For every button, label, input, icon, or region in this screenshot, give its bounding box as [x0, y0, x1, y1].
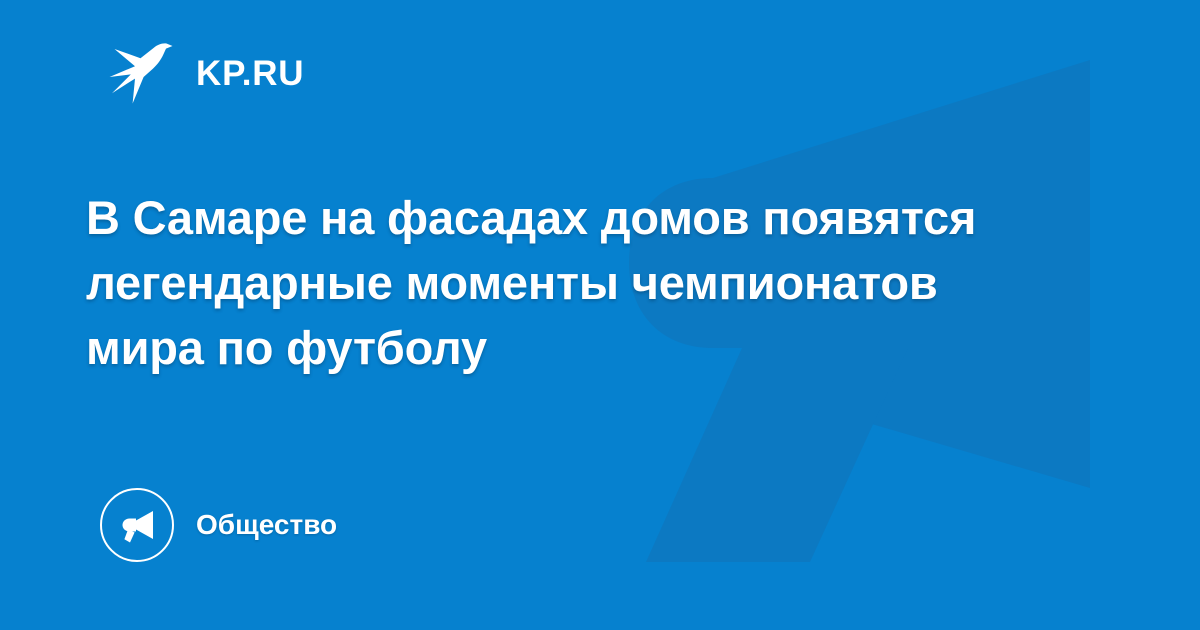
brand-logo[interactable]: KP.RU: [104, 36, 304, 108]
brand-name: KP.RU: [196, 56, 304, 91]
megaphone-icon: [100, 488, 174, 562]
headline: В Самаре на фасадах домов появятся леген…: [86, 185, 1016, 380]
swallow-bird-icon: [104, 35, 178, 109]
rubric-badge[interactable]: Общество: [100, 487, 337, 563]
rubric-label: Общество: [196, 511, 337, 539]
social-share-card: KP.RU В Самаре на фасадах домов появятся…: [0, 0, 1200, 630]
